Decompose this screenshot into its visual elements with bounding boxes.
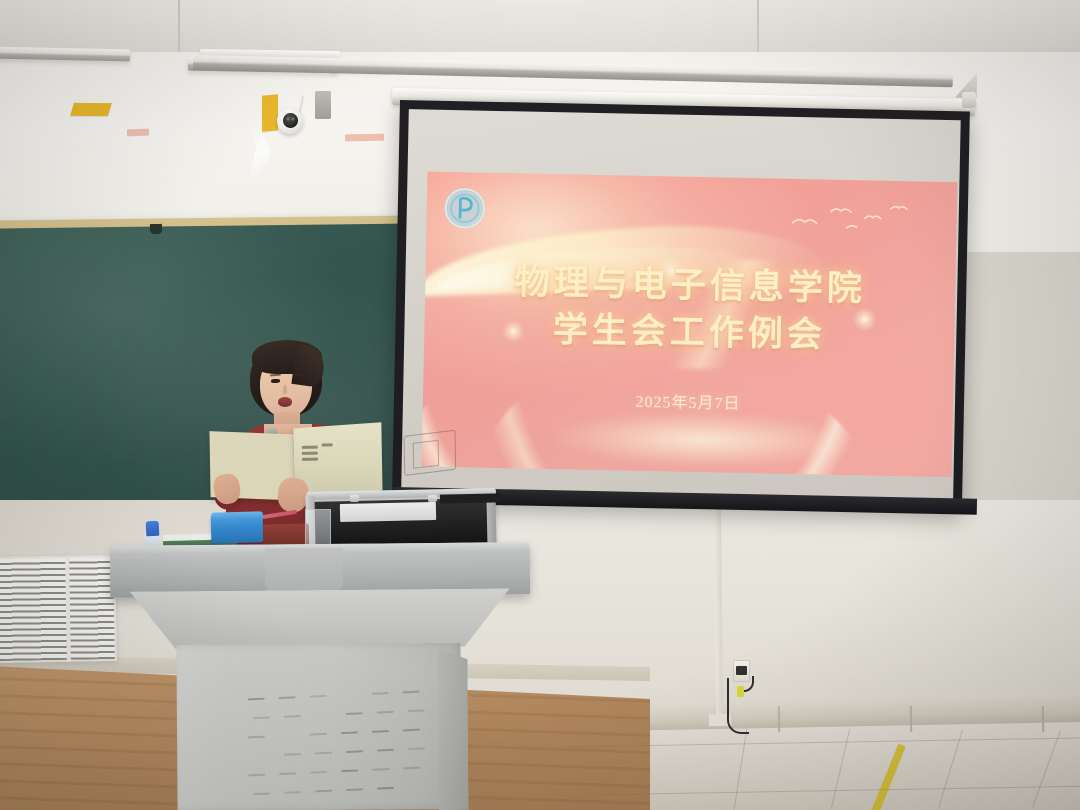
podium-console-strip <box>440 493 500 503</box>
wall-sticker <box>345 134 384 142</box>
ceiling <box>0 0 1080 58</box>
lectern-vent-slot <box>346 788 363 791</box>
slide-title: 物理与电子信息学院 学生会工作例会 <box>424 258 956 362</box>
screen-surface: 物理与电子信息学院 学生会工作例会 2025年5月7日 <box>401 109 961 502</box>
lectern-vent-slot <box>372 768 389 771</box>
lectern-vent-slot <box>377 787 394 790</box>
lectern-vent-slot <box>346 712 363 715</box>
lectern-vent-slot <box>377 749 394 752</box>
lectern-vent-slot <box>248 736 265 739</box>
camera-ir-leds <box>286 117 295 121</box>
projector-screen: 物理与电子信息学院 学生会工作例会 2025年5月7日 <box>392 100 970 511</box>
lectern-front-lip <box>265 548 343 593</box>
mouth <box>278 397 292 407</box>
booklet-text-line <box>302 458 318 461</box>
water-bottle-cap[interactable] <box>146 521 160 537</box>
lectern-vent-slot <box>310 771 327 774</box>
lectern-vent-slot <box>372 730 389 733</box>
lectern-vent-slot <box>403 691 420 694</box>
lectern-vent-slot <box>284 715 301 718</box>
booklet-text-line <box>302 452 318 455</box>
lectern-vent-slot <box>279 772 296 775</box>
dark-red-box[interactable] <box>263 523 310 546</box>
radiator-grille <box>0 555 117 663</box>
wall-sticker <box>127 129 149 137</box>
console-hinge <box>428 495 437 502</box>
podium-console-post <box>486 496 496 548</box>
lectern-neck <box>130 588 510 649</box>
lectern-vent-slot <box>310 733 327 736</box>
wall-tape-mark <box>70 103 112 116</box>
lectern-vent-slot <box>403 729 420 732</box>
console-hinge <box>350 495 359 502</box>
lectern-vent-slot <box>372 692 389 695</box>
lectern-vent-slot <box>284 753 301 756</box>
lectern-vent-slot <box>279 696 296 699</box>
booklet-diagram <box>404 430 457 476</box>
ceiling-seam <box>757 0 759 58</box>
booklet-text-line <box>302 446 318 449</box>
slide-ribbon-glow <box>552 409 853 470</box>
lectern-vent-slot <box>403 767 420 770</box>
lectern-vent-grid <box>248 686 445 810</box>
booklet-text-line <box>322 443 333 446</box>
classroom-photo: 物理与电子信息学院 学生会工作例会 2025年5月7日 <box>0 0 1080 810</box>
projected-slide: 物理与电子信息学院 学生会工作例会 2025年5月7日 <box>422 172 958 478</box>
ceiling-seam <box>178 0 180 58</box>
podium-console-plate <box>340 502 436 522</box>
blue-storage-box-lid[interactable] <box>211 511 263 520</box>
outlet-socket-icon <box>736 666 747 675</box>
nose <box>283 385 287 394</box>
acrylic-stand[interactable] <box>305 509 331 548</box>
lectern-vent-slot <box>248 774 265 777</box>
lectern-vent-slot <box>341 731 358 734</box>
lectern-vent-slot <box>253 792 270 795</box>
eye <box>271 379 280 383</box>
cable-tag <box>737 686 744 697</box>
lectern-vent-slot <box>248 698 265 701</box>
screen-roller-endcap <box>962 92 976 108</box>
lectern-vent-slot <box>315 790 332 793</box>
lectern-vent-slot <box>315 752 332 755</box>
lectern-vent-slot <box>408 709 425 712</box>
lectern-vent-slot <box>284 791 301 794</box>
chalkboard-clip <box>150 224 162 234</box>
lectern-vent-slot <box>408 747 425 750</box>
lectern-vent-slot <box>346 750 363 753</box>
lectern-vent-slot <box>341 769 358 772</box>
lectern-vent-slot <box>253 716 270 719</box>
birds-icon <box>786 201 927 246</box>
lectern-vent-slot <box>377 711 394 714</box>
lectern-vent-slot <box>310 695 327 698</box>
university-emblem-icon <box>442 186 487 231</box>
eye <box>294 379 303 383</box>
wall-mounted-box <box>315 91 331 119</box>
